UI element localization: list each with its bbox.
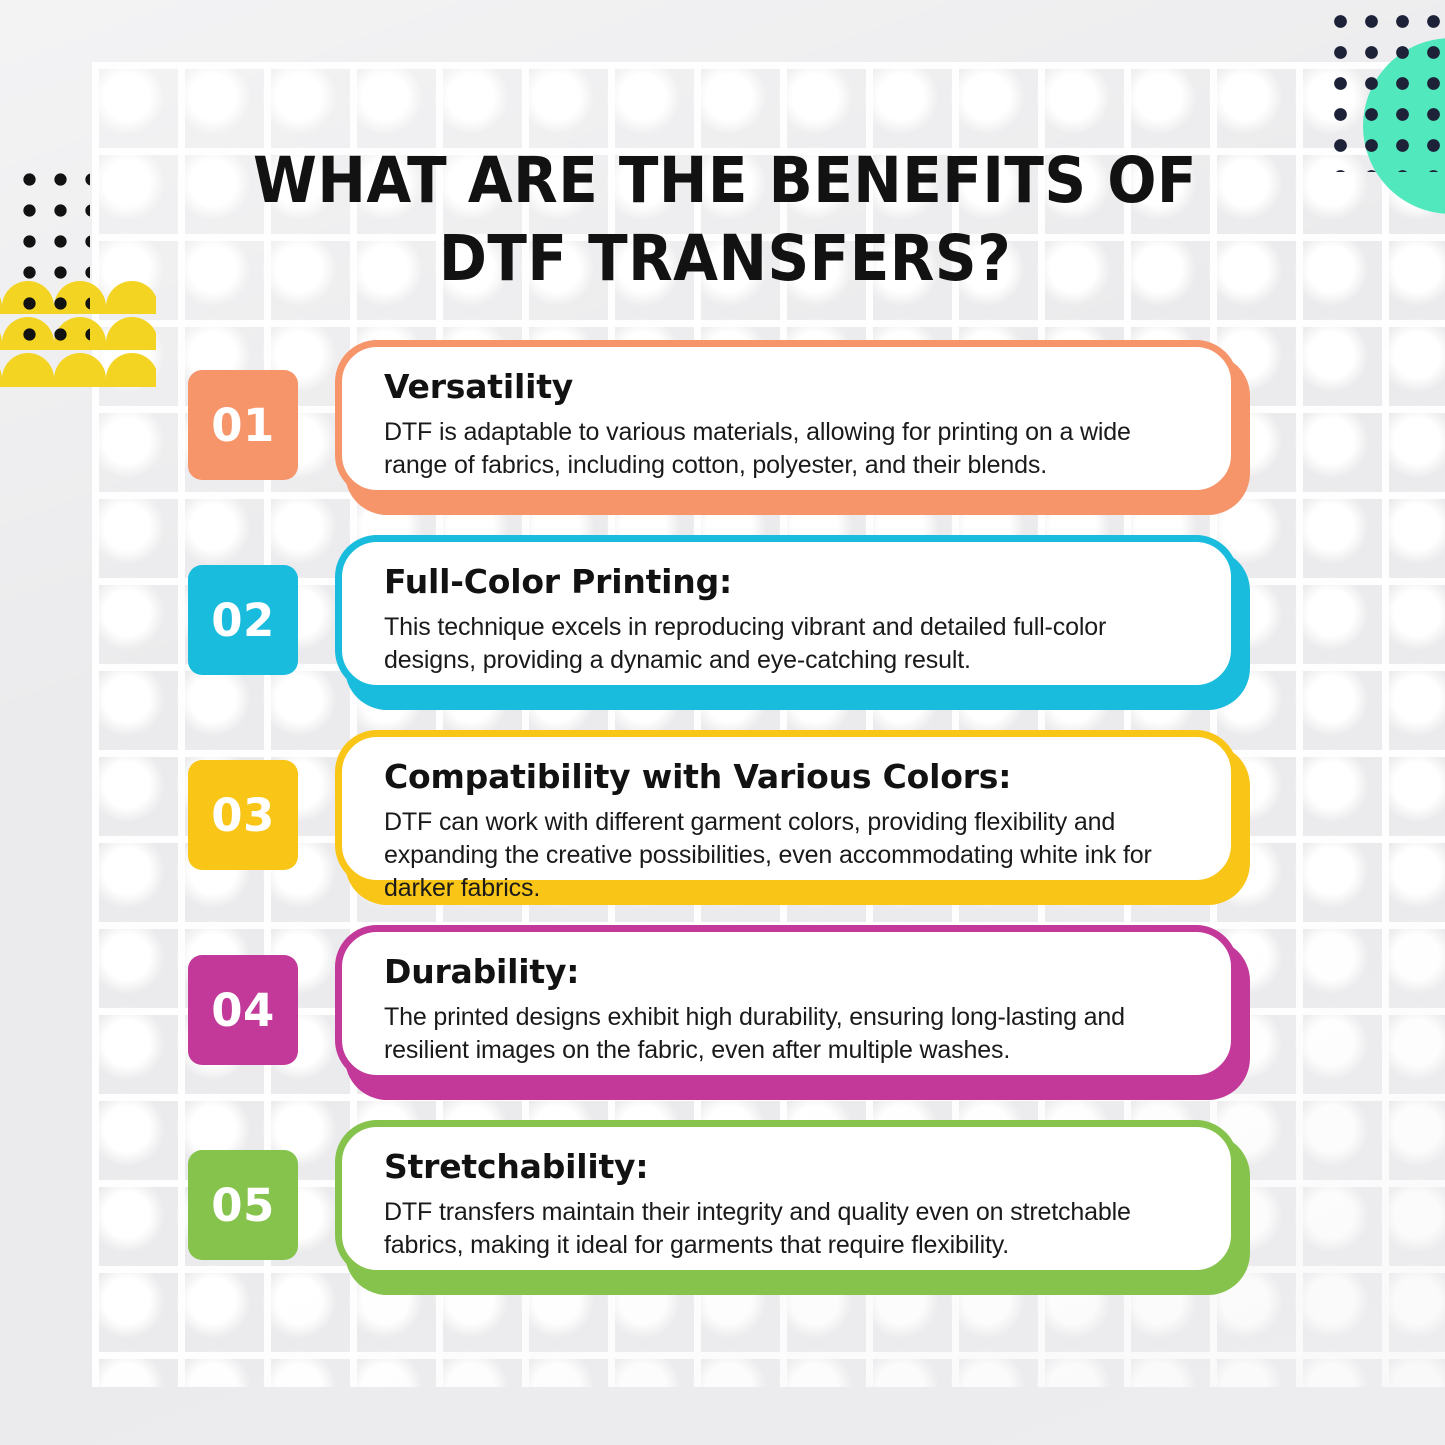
benefit-card-04: Durability: The printed designs exhibit …: [335, 925, 1250, 1100]
benefits-list: 01 Versatility DTF is adaptable to vario…: [0, 340, 1445, 1315]
list-item: 02 Full-Color Printing: This technique e…: [0, 535, 1445, 730]
benefit-card-02: Full-Color Printing: This technique exce…: [335, 535, 1250, 710]
benefit-description: The printed designs exhibit high durabil…: [384, 1001, 1194, 1067]
list-item: 03 Compatibility with Various Colors: DT…: [0, 730, 1445, 925]
badge-number-label: 02: [211, 594, 275, 647]
badge-number-label: 04: [211, 984, 275, 1037]
benefit-title: Durability:: [384, 952, 1197, 992]
benefit-description: This technique excels in reproducing vib…: [384, 611, 1194, 677]
badge-number-label: 01: [211, 399, 275, 452]
benefit-title: Full-Color Printing:: [384, 562, 1197, 602]
infographic-poster: WHAT ARE THE BENEFITS OF DTF TRANSFERS? …: [0, 0, 1445, 1445]
card-surface: Versatility DTF is adaptable to various …: [335, 340, 1238, 497]
benefit-description: DTF transfers maintain their integrity a…: [384, 1196, 1194, 1262]
list-item: 01 Versatility DTF is adaptable to vario…: [0, 340, 1445, 535]
benefit-card-05: Stretchability: DTF transfers maintain t…: [335, 1120, 1250, 1295]
card-surface: Stretchability: DTF transfers maintain t…: [335, 1120, 1238, 1277]
dot-grid-left-decoration: [14, 164, 90, 356]
list-item: 05 Stretchability: DTF transfers maintai…: [0, 1120, 1445, 1315]
benefit-number-badge-01: 01: [188, 370, 298, 480]
card-surface: Full-Color Printing: This technique exce…: [335, 535, 1238, 692]
benefit-title: Compatibility with Various Colors:: [384, 757, 1197, 797]
badge-number-label: 03: [211, 789, 275, 842]
benefit-card-01: Versatility DTF is adaptable to various …: [335, 340, 1250, 515]
benefit-title: Stretchability:: [384, 1147, 1197, 1187]
dot-grid-top-right-decoration: [1325, 6, 1445, 172]
benefit-title: Versatility: [384, 367, 1197, 407]
benefit-number-badge-02: 02: [188, 565, 298, 675]
benefit-description: DTF can work with different garment colo…: [384, 806, 1194, 905]
benefit-number-badge-05: 05: [188, 1150, 298, 1260]
badge-number-label: 05: [211, 1179, 275, 1232]
card-surface: Compatibility with Various Colors: DTF c…: [335, 730, 1238, 887]
benefit-description: DTF is adaptable to various materials, a…: [384, 416, 1194, 482]
benefit-card-03: Compatibility with Various Colors: DTF c…: [335, 730, 1250, 905]
benefit-number-badge-03: 03: [188, 760, 298, 870]
card-surface: Durability: The printed designs exhibit …: [335, 925, 1238, 1082]
list-item: 04 Durability: The printed designs exhib…: [0, 925, 1445, 1120]
page-title: WHAT ARE THE BENEFITS OF DTF TRANSFERS?: [196, 142, 1254, 298]
benefit-number-badge-04: 04: [188, 955, 298, 1065]
